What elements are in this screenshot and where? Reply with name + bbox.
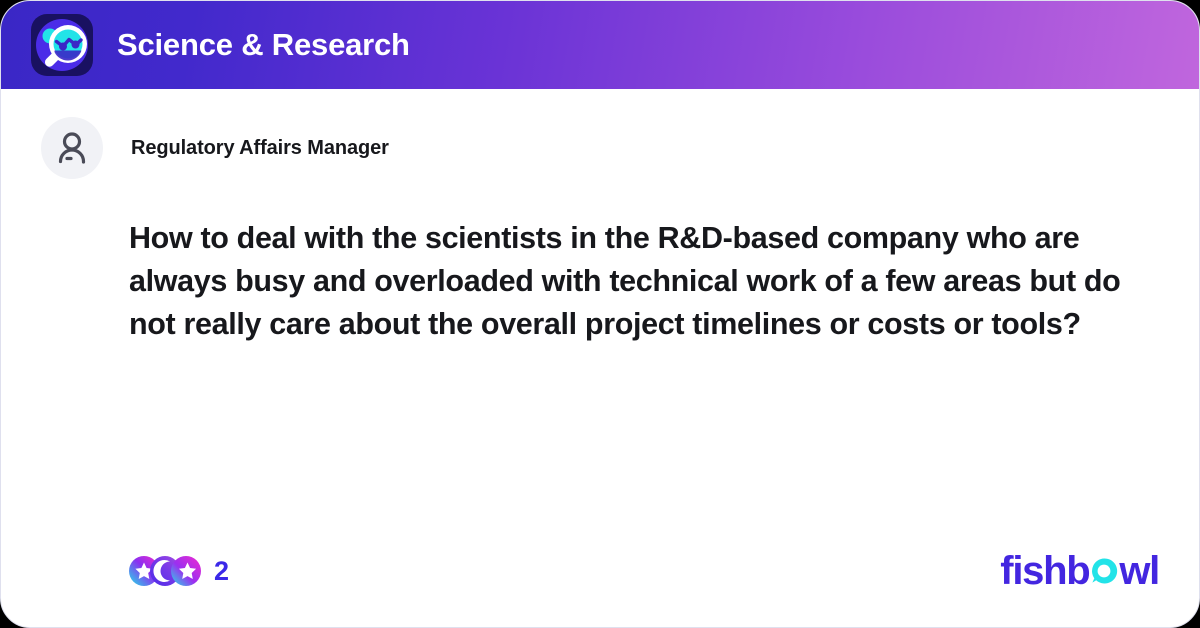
reaction-stack[interactable]: [129, 556, 201, 586]
fishbowl-text-after: wl: [1119, 551, 1159, 591]
logo-glyph: [31, 14, 93, 76]
fishbowl-o-glyph: [1090, 557, 1118, 585]
avatar-glyph: [41, 117, 103, 179]
post-card: Science & Research Regulatory Affairs Ma…: [0, 0, 1200, 628]
post-footer: 2 fishb wl: [41, 547, 1159, 595]
fishbowl-logo: fishb wl: [1000, 551, 1159, 591]
post-body: Regulatory Affairs Manager How to deal w…: [1, 89, 1199, 627]
person-avatar-icon: [41, 117, 103, 179]
post-text: How to deal with the scientists in the R…: [129, 217, 1139, 346]
reaction-count: 2: [214, 556, 229, 587]
star-reaction-glyph: [171, 556, 201, 586]
bowl-title: Science & Research: [117, 27, 410, 63]
reactions[interactable]: 2: [129, 556, 229, 587]
fishbowl-o-icon: [1090, 557, 1118, 585]
bowl-header: Science & Research: [1, 1, 1199, 89]
star-reaction-icon[interactable]: [171, 556, 201, 586]
author-row: Regulatory Affairs Manager: [41, 117, 1159, 179]
magnifier-molecule-icon: [31, 14, 93, 76]
fishbowl-text-before: fishb: [1000, 551, 1089, 591]
author-name: Regulatory Affairs Manager: [131, 137, 389, 160]
